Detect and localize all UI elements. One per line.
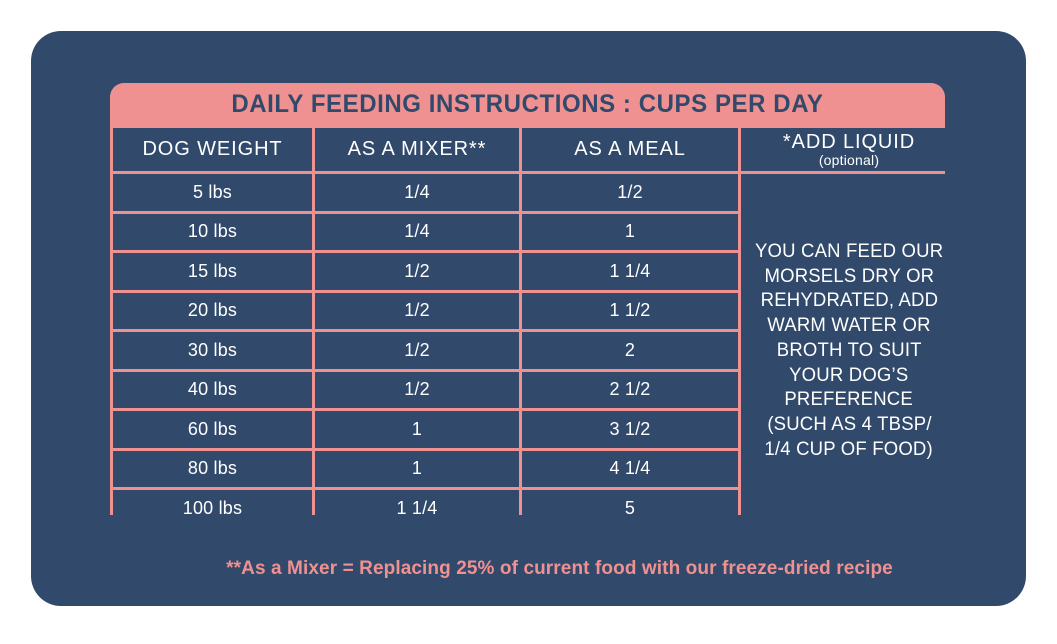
footer-note: **As a Mixer = Replacing 25% of current … [31, 558, 1057, 580]
add-liquid-note-line: 1/4 CUP OF FOOD) [765, 437, 933, 462]
add-liquid-note-line: YOUR DOG’S [789, 363, 908, 388]
table-cell-meal: 1/2 [522, 174, 738, 211]
table-cell-mixer: 1/4 [315, 214, 519, 251]
column-header-4: *ADD LIQUID(optional) [741, 128, 957, 171]
table-cell-weight: 40 lbs [113, 372, 312, 409]
table-cell-mixer: 1 [315, 451, 519, 488]
table-cell-meal: 1 [522, 214, 738, 251]
add-liquid-note-line: PREFERENCE [785, 387, 914, 412]
column-header-1: DOG WEIGHT [113, 128, 312, 171]
add-liquid-note-line: WARM WATER OR [767, 313, 930, 338]
table-cell-mixer: 1/2 [315, 372, 519, 409]
column-header-label: *ADD LIQUID [783, 132, 915, 153]
feeding-table: DOG WEIGHTAS A MIXER**AS A MEAL*ADD LIQU… [110, 125, 945, 515]
table-cell-meal: 1 1/2 [522, 293, 738, 330]
add-liquid-note-line: BROTH TO SUIT [777, 338, 922, 363]
table-cell-weight: 15 lbs [113, 253, 312, 290]
table-cell-weight: 30 lbs [113, 332, 312, 369]
column-header-label: AS A MIXER** [348, 139, 487, 160]
table-cell-meal: 3 1/2 [522, 411, 738, 448]
add-liquid-note-line: REHYDRATED, ADD [760, 288, 938, 313]
table-cell-mixer: 1/2 [315, 332, 519, 369]
add-liquid-note-line: MORSELS DRY OR [764, 264, 934, 289]
column-header-label: DOG WEIGHT [142, 139, 282, 160]
table-cell-meal: 4 1/4 [522, 451, 738, 488]
table-cell-weight: 60 lbs [113, 411, 312, 448]
add-liquid-note-line: (SUCH AS 4 TBSP/ [767, 412, 931, 437]
add-liquid-note: YOU CAN FEED OURMORSELS DRY ORREHYDRATED… [741, 174, 957, 527]
table-cell-meal: 1 1/4 [522, 253, 738, 290]
page-title: DAILY FEEDING INSTRUCTIONS : CUPS PER DA… [231, 90, 823, 119]
table-cell-weight: 20 lbs [113, 293, 312, 330]
table-cell-weight: 5 lbs [113, 174, 312, 211]
column-header-label: AS A MEAL [574, 139, 686, 160]
column-header-sublabel: (optional) [819, 153, 879, 168]
column-header-3: AS A MEAL [522, 128, 738, 171]
add-liquid-note-line: YOU CAN FEED OUR [755, 239, 943, 264]
table-cell-meal: 2 1/2 [522, 372, 738, 409]
table-cell-mixer: 1/2 [315, 253, 519, 290]
table-cell-mixer: 1 [315, 411, 519, 448]
table-cell-weight: 10 lbs [113, 214, 312, 251]
column-header-2: AS A MIXER** [315, 128, 519, 171]
table-cell-weight: 80 lbs [113, 451, 312, 488]
title-bar: DAILY FEEDING INSTRUCTIONS : CUPS PER DA… [110, 83, 945, 125]
table-cell-meal: 2 [522, 332, 738, 369]
table-cell-mixer: 1/2 [315, 293, 519, 330]
feeding-instructions-card: DAILY FEEDING INSTRUCTIONS : CUPS PER DA… [31, 31, 1026, 606]
table-cell-weight: 100 lbs [113, 490, 312, 527]
table-cell-mixer: 1/4 [315, 174, 519, 211]
table-cell-meal: 5 [522, 490, 738, 527]
table-cell-mixer: 1 1/4 [315, 490, 519, 527]
